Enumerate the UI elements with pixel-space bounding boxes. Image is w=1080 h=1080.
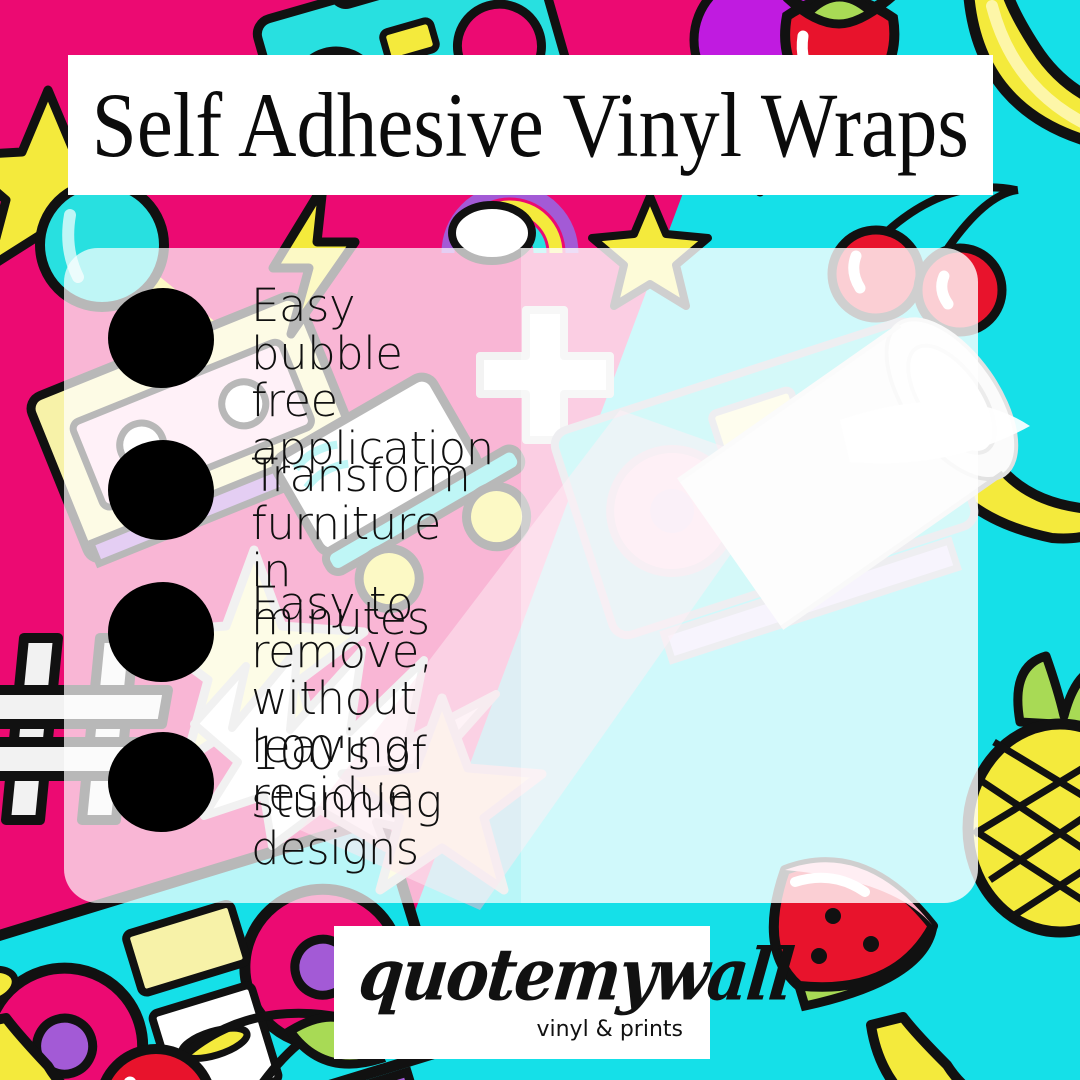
brand-tagline: vinyl & prints — [536, 1017, 683, 1042]
title-card: Self Adhesive Vinyl Wraps — [68, 55, 993, 195]
banana-icon — [855, 1005, 1080, 1080]
banana-icon — [0, 1010, 190, 1080]
logo-lockup: quotemywall vinyl & prints — [357, 938, 687, 1048]
bullet-blob-icon — [108, 288, 214, 388]
brand-wordmark: quotemywall — [355, 940, 795, 1012]
bullet-blob-icon — [108, 440, 214, 540]
page-title: Self Adhesive Vinyl Wraps — [92, 79, 969, 171]
poster-canvas: Easy bubble free application Transform f… — [0, 0, 1080, 1080]
brand-logo-card: quotemywall vinyl & prints — [334, 926, 710, 1059]
bullet-blob-icon — [108, 732, 214, 832]
feature-label: 100's of stunning designs — [251, 730, 442, 873]
bullet-blob-icon — [108, 582, 214, 682]
feature-label: Easy bubble free application — [251, 282, 494, 473]
feature-list: Easy bubble free application Transform f… — [64, 248, 978, 903]
